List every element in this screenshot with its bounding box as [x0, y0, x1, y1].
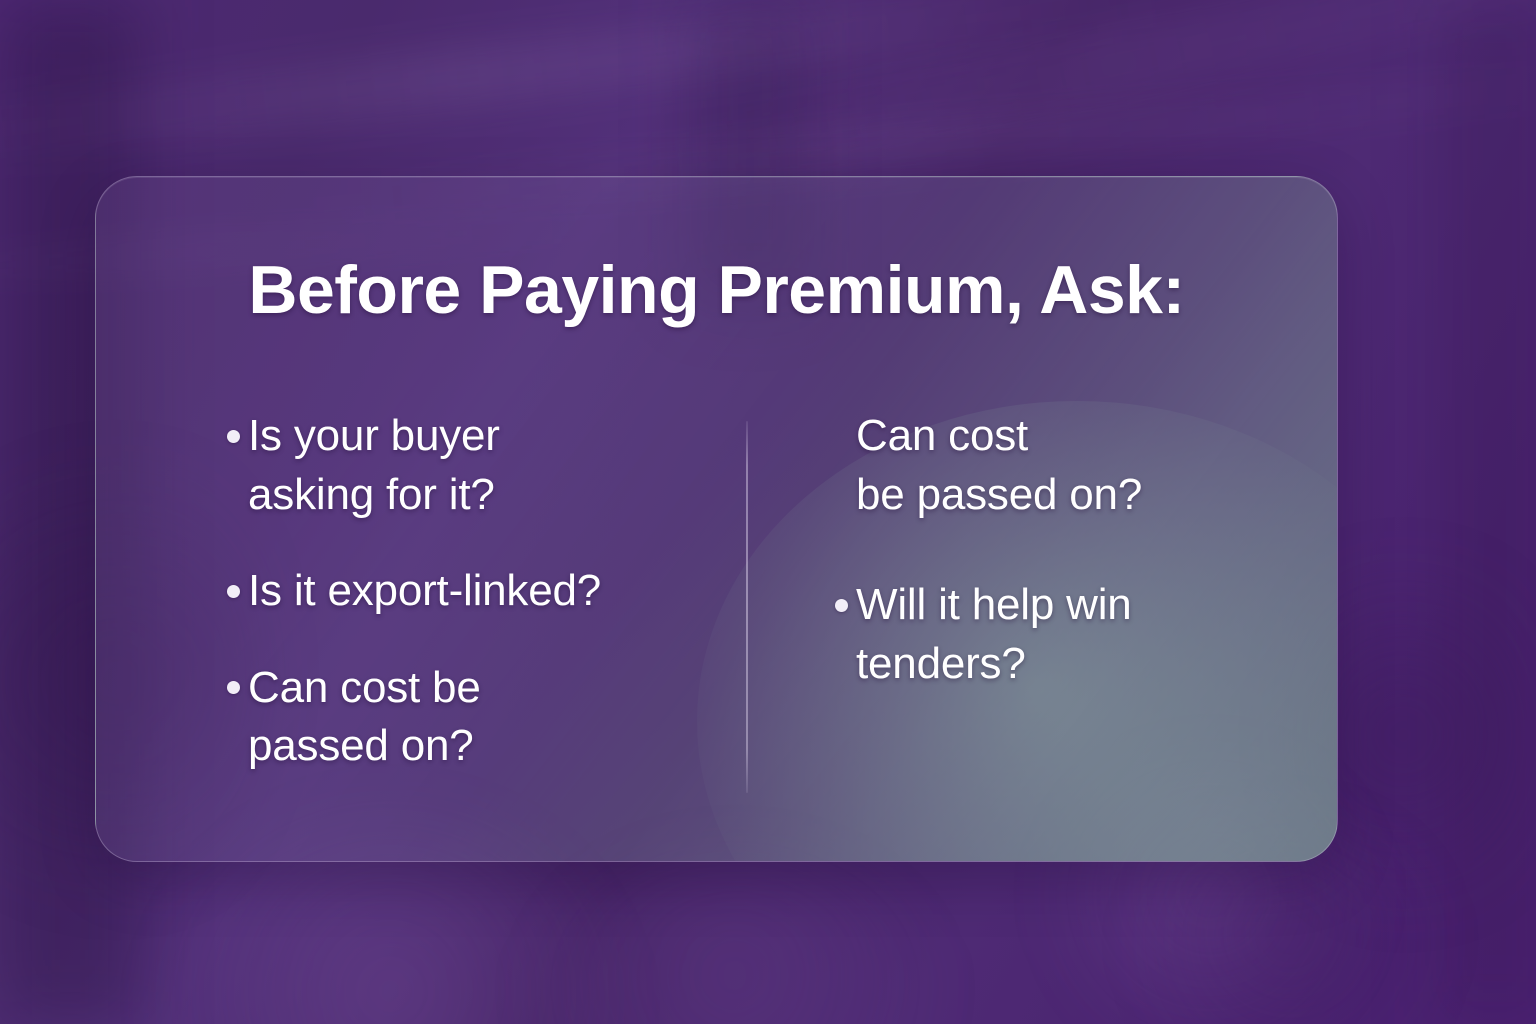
- checklist-item-label: Is it export-linked?: [248, 562, 778, 621]
- checklist-column-right: Can costbe passed on?Will it help winten…: [826, 407, 1306, 745]
- checklist-item: Is it export-linked?: [218, 562, 778, 621]
- checklist-item-label: Can costbe passed on?: [856, 407, 1306, 524]
- checklist-item-label: Will it help wintenders?: [856, 576, 1306, 693]
- checklist-item-line: passed on?: [248, 717, 778, 776]
- background-band: [1440, 0, 1536, 1024]
- bullet-dot-icon: [218, 407, 248, 465]
- glass-card: Before Paying Premium, Ask: Is your buye…: [95, 176, 1338, 862]
- checklist-item-line: asking for it?: [248, 466, 778, 525]
- checklist-item-line: Is it export-linked?: [248, 562, 778, 621]
- checklist-item-line: Is your buyer: [248, 407, 778, 466]
- checklist-item-label: Is your buyerasking for it?: [248, 407, 778, 524]
- bullet-dot-icon: [218, 659, 248, 717]
- background-blob: [520, 860, 950, 1024]
- checklist-item: Is your buyerasking for it?: [218, 407, 778, 524]
- bullet-dot-icon: [826, 407, 856, 465]
- page-title: Before Paying Premium, Ask:: [96, 255, 1337, 326]
- checklist-item-line: Can cost: [856, 407, 1306, 466]
- checklist-item-line: be passed on?: [856, 466, 1306, 525]
- checklist-item: Can cost bepassed on?: [218, 659, 778, 776]
- checklist-item-line: Can cost be: [248, 659, 778, 718]
- background-streak: [0, 0, 1179, 171]
- checklist-item-line: tenders?: [856, 635, 1306, 694]
- checklist-item-label: Can cost bepassed on?: [248, 659, 778, 776]
- bullet-dot-icon: [218, 562, 248, 620]
- checklist-item: Will it help wintenders?: [826, 576, 1306, 693]
- checklist-item: Can costbe passed on?: [826, 407, 1306, 524]
- checklist-item-line: Will it help win: [856, 576, 1306, 635]
- background-streak: [625, 0, 1536, 202]
- bullet-dot-icon: [826, 576, 856, 634]
- checklist-column-left: Is your buyerasking for it?Is it export-…: [218, 407, 778, 814]
- slide-canvas: Before Paying Premium, Ask: Is your buye…: [0, 0, 1536, 1024]
